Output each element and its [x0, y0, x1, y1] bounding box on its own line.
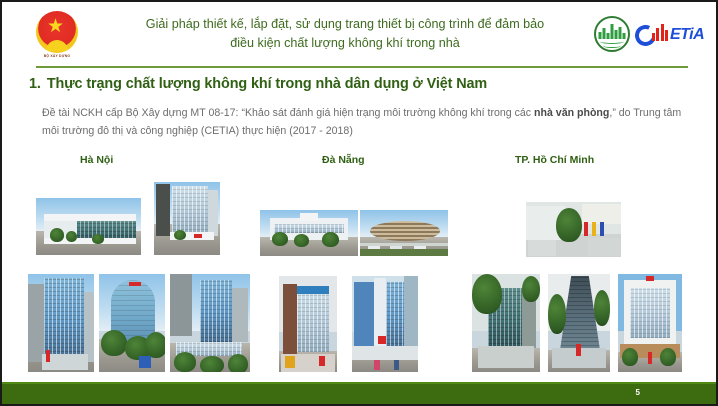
photo-hanoi-hotel-tower: [154, 182, 220, 255]
photo-hanoi-round-blue-tower: [99, 274, 165, 372]
emblem-disc: [36, 11, 78, 53]
city-label-ho-chi-minh-city: TP. Hồ Chí Minh: [515, 154, 594, 166]
emblem-gear-icon: [46, 40, 68, 51]
subtitle-bold-term: nhà văn phòng: [534, 107, 609, 119]
header-title-line1: Giải pháp thiết kế, lắp đặt, sử dụng tra…: [107, 15, 583, 34]
subtitle-part1: Đề tài NCKH cấp Bộ Xây dựng MT 08-17: “K…: [42, 107, 534, 119]
photo-hcmc-white-hotel-tower: [618, 274, 682, 372]
photo-hanoi-twin-highrise: [170, 274, 250, 372]
photo-hcmc-gated-office-entrance: [526, 202, 621, 257]
cetia-wordmark-logo: ETiA: [635, 18, 704, 52]
header-divider: [36, 66, 688, 68]
slide: BỘ XÂY DỰNG Giải pháp thiết kế, lắp đặt,…: [0, 0, 718, 406]
city-label-danang: Đà Nẵng: [322, 154, 365, 166]
subtitle: Đề tài NCKH cấp Bộ Xây dựng MT 08-17: “K…: [42, 104, 687, 140]
photo-danang-blue-white-tower: [352, 276, 418, 372]
photo-hcmc-dark-glass-tower: [548, 274, 610, 372]
section-title-text: Thực trạng chất lượng không khí trong nh…: [47, 76, 487, 92]
header-title: Giải pháp thiết kế, lắp đặt, sử dụng tra…: [107, 15, 583, 53]
slide-footer: 5: [2, 382, 716, 404]
emblem-caption: BỘ XÂY DỰNG: [44, 54, 70, 58]
photo-hanoi-blue-glass-tower: [28, 274, 94, 372]
page-number: 5: [636, 388, 640, 397]
section-number: 1.: [29, 76, 41, 92]
cetia-wordmark-text: ETiA: [670, 26, 704, 44]
photo-hanoi-office-low-rise: [36, 198, 141, 255]
slide-header: BỘ XÂY DỰNG Giải pháp thiết kế, lắp đặt,…: [2, 2, 716, 68]
header-title-line2: điều kiện chất lượng không khí trong nhà: [107, 34, 583, 53]
photo-danang-oval-stadium-building: [360, 210, 448, 256]
photo-danang-administrative-building: [260, 210, 358, 256]
wave-icon-2: [603, 44, 621, 48]
vietnam-national-emblem-icon: BỘ XÂY DỰNG: [29, 11, 85, 63]
city-label-hanoi: Hà Nội: [80, 154, 113, 166]
section-title: 1.Thực trạng chất lượng không khí trong …: [29, 76, 689, 92]
photo-hcmc-green-glass-tower: [472, 274, 540, 372]
skyline-icon: [599, 24, 626, 39]
cetia-circle-logo-icon: [594, 16, 630, 52]
photo-danang-brown-office-block: [279, 276, 337, 372]
cetia-red-bars-icon: [652, 24, 668, 41]
